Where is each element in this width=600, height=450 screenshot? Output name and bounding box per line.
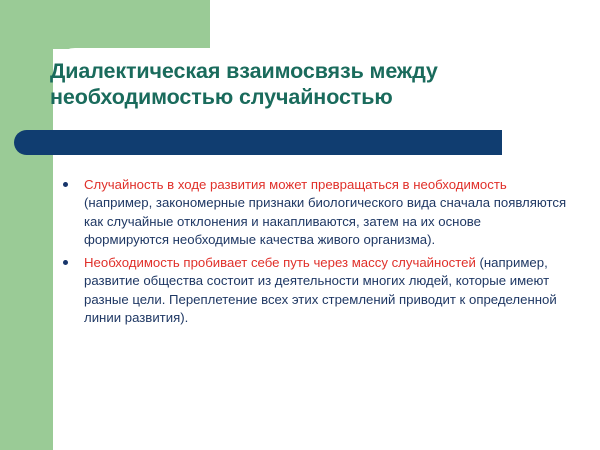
green-left-decoration: [0, 0, 53, 450]
slide-title-line-2: необходимостью случайностью: [50, 84, 590, 110]
slide-title: Диалектическая взаимосвязь между необход…: [50, 58, 590, 110]
bullet-accent-text: Необходимость пробивает себе путь через …: [84, 255, 476, 270]
presentation-slide: Диалектическая взаимосвязь между необход…: [0, 0, 600, 450]
bullet-accent-text: Случайность в ходе развития может превра…: [84, 177, 507, 192]
list-item: Случайность в ходе развития может превра…: [58, 176, 568, 249]
bullet-dot-icon: [63, 182, 68, 187]
slide-body-list: Случайность в ходе развития может превра…: [58, 176, 568, 332]
list-item: Необходимость пробивает себе путь через …: [58, 254, 568, 327]
bullet-body-text: (например, закономерные признаки биологи…: [84, 195, 566, 247]
title-underline-bar: [14, 130, 502, 155]
bullet-dot-icon: [63, 260, 68, 265]
slide-title-line-1: Диалектическая взаимосвязь между: [50, 58, 590, 84]
